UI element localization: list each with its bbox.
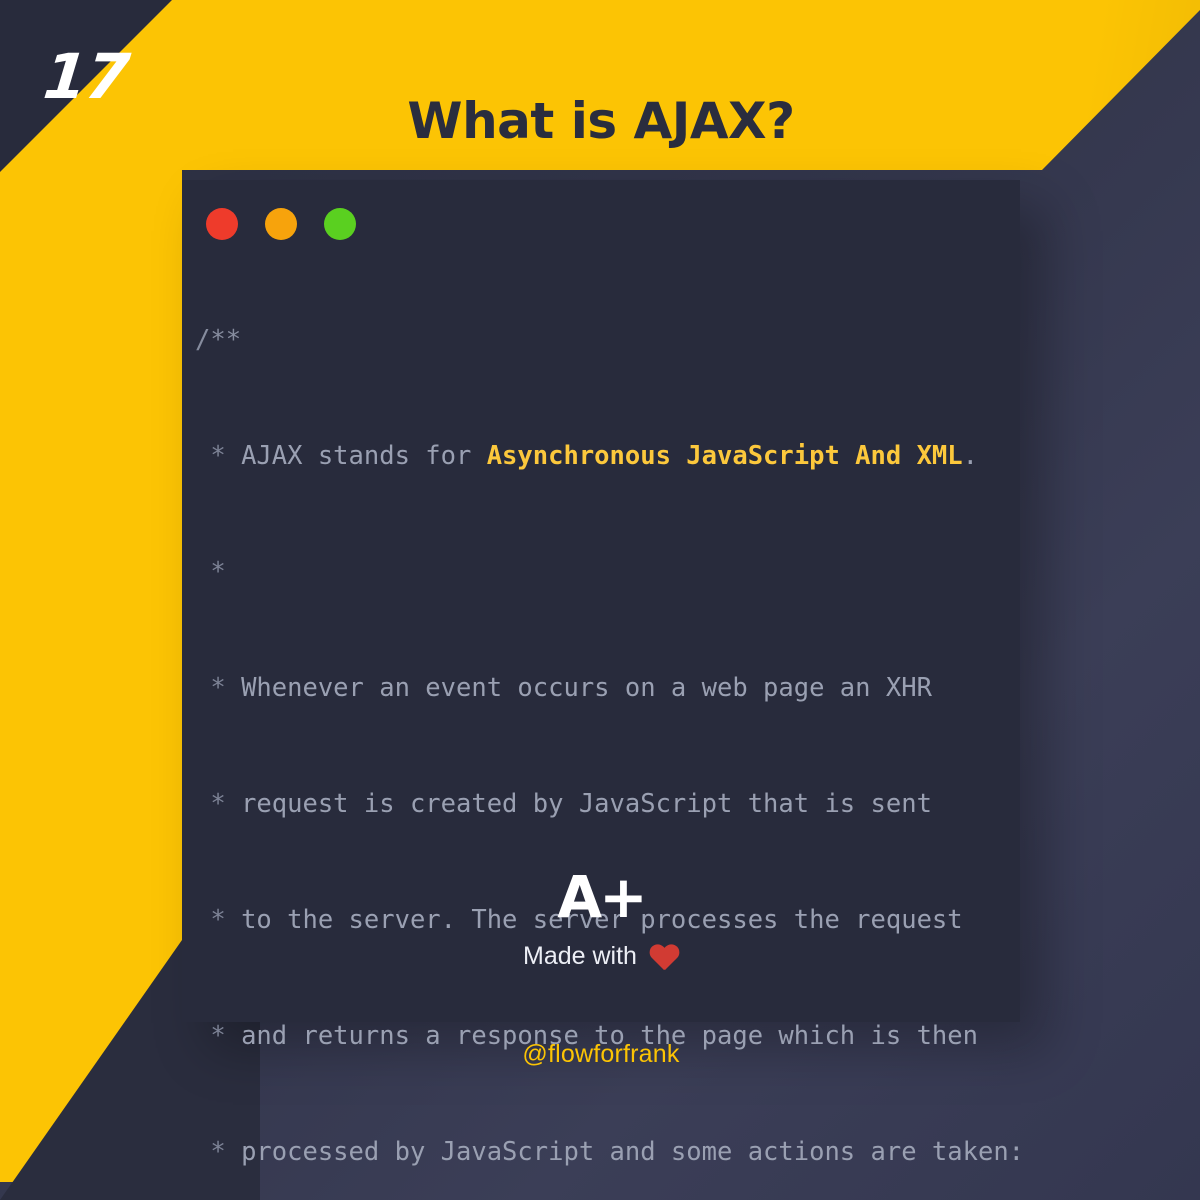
slide-number: 17 — [41, 46, 132, 108]
code-text: request is created by JavaScript that is… — [241, 789, 932, 819]
code-line: * AJAX stands for Asynchronous JavaScrip… — [195, 442, 1010, 471]
window-controls — [206, 208, 356, 240]
code-text: AJAX stands for — [241, 441, 487, 471]
maximize-dot-icon[interactable] — [324, 208, 356, 240]
code-line: * request is created by JavaScript that … — [195, 790, 1010, 819]
code-text: Whenever an event occurs on a web page a… — [241, 673, 932, 703]
code-line-open: /** — [195, 326, 1010, 355]
brand-block: A+ Made with — [182, 868, 1020, 971]
comment-star: * — [195, 441, 241, 471]
author-handle[interactable]: @flowforfrank — [182, 1040, 1020, 1069]
code-line: * Whenever an event occurs on a web page… — [195, 674, 1010, 703]
poster-canvas: 17 What is AJAX? /** * AJAX stands for A… — [0, 0, 1200, 1200]
comment-star: * — [195, 557, 241, 587]
code-text-suffix: . — [963, 441, 978, 471]
code-text: processed by JavaScript and some actions… — [241, 1137, 1024, 1167]
minimize-dot-icon[interactable] — [265, 208, 297, 240]
code-emphasis: Asynchronous JavaScript And XML — [487, 441, 963, 471]
comment-star: * — [195, 789, 241, 819]
code-line: * processed by JavaScript and some actio… — [195, 1138, 1010, 1167]
brand-tagline: Made with — [182, 942, 1020, 971]
heart-icon — [649, 945, 679, 972]
comment-star: * — [195, 673, 241, 703]
brand-tagline-text: Made with — [523, 942, 637, 971]
code-window: /** * AJAX stands for Asynchronous JavaS… — [182, 180, 1020, 1022]
comment-star: * — [195, 1137, 241, 1167]
page-title: What is AJAX? — [182, 96, 1020, 146]
close-dot-icon[interactable] — [206, 208, 238, 240]
code-line: * — [195, 558, 1010, 587]
brand-logo: A+ — [182, 868, 1020, 926]
